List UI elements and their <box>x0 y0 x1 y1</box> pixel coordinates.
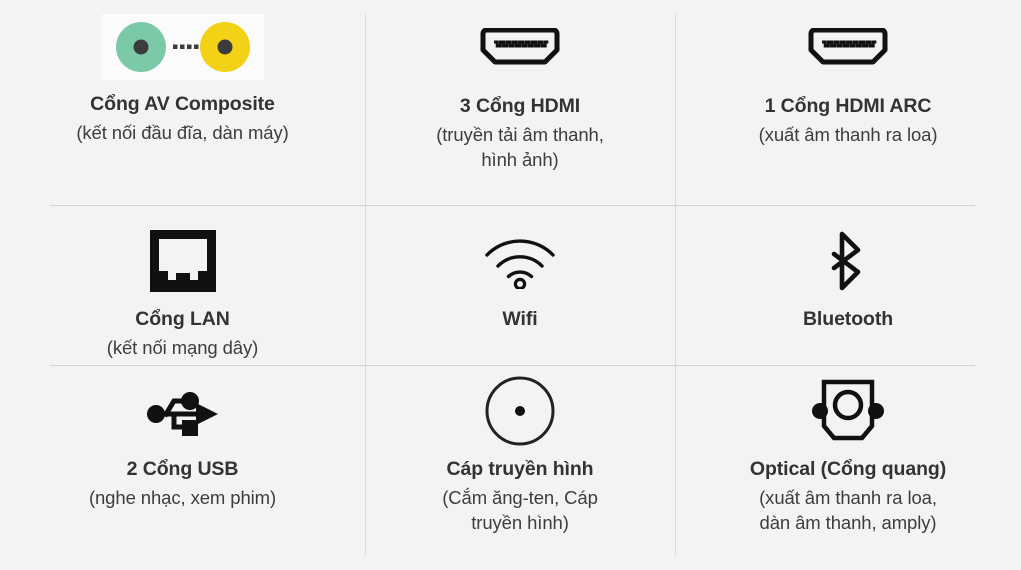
port-cell-optical: Optical (Cổng quang) (xuất âm thanh ra l… <box>675 365 1021 570</box>
port-subtitle: (Cắm ăng-ten, Cáp truyền hình) <box>442 486 598 535</box>
port-subtitle-line: (nghe nhạc, xem phim) <box>89 486 276 511</box>
hdmi-arc-icon <box>805 14 891 82</box>
vertical-divider-2 <box>675 14 676 556</box>
optical-port-icon <box>808 377 888 445</box>
port-subtitle: (kết nối đầu đĩa, dàn máy) <box>76 121 288 146</box>
lan-port-icon <box>150 227 216 295</box>
av-composite-icon <box>102 14 264 80</box>
wifi-icon <box>482 227 558 295</box>
bluetooth-icon <box>828 227 868 295</box>
port-subtitle-line: (truyền tải âm thanh, <box>436 123 604 148</box>
port-subtitle: (kết nối mạng dây) <box>107 336 258 361</box>
port-cell-av-composite: Cổng AV Composite (kết nối đầu đĩa, dàn … <box>0 0 365 205</box>
port-subtitle-line: (kết nối đầu đĩa, dàn máy) <box>76 121 288 146</box>
vertical-divider-1 <box>365 14 366 556</box>
port-subtitle-line: dàn âm thanh, amply) <box>750 511 946 536</box>
port-title: Cổng LAN <box>107 307 258 333</box>
port-subtitle-line: (Cắm ăng-ten, Cáp <box>442 486 598 511</box>
usb-icon <box>144 377 222 445</box>
horizontal-divider-1 <box>50 205 975 206</box>
port-cell-hdmi-arc: 1 Cổng HDMI ARC (xuất âm thanh ra loa) <box>675 0 1021 205</box>
port-labels: Optical (Cổng quang) (xuất âm thanh ra l… <box>750 457 946 535</box>
connectivity-ports-infographic: Cổng AV Composite (kết nối đầu đĩa, dàn … <box>0 0 1021 570</box>
port-subtitle-line: hình ảnh) <box>436 148 604 173</box>
port-cell-wifi: Wifi <box>365 205 675 365</box>
port-title: Wifi <box>502 307 537 333</box>
port-subtitle: (xuất âm thanh ra loa) <box>759 123 938 148</box>
port-title: Cáp truyền hình <box>442 457 598 483</box>
port-labels: Cổng AV Composite (kết nối đầu đĩa, dàn … <box>76 92 288 146</box>
port-labels: 3 Cổng HDMI (truyền tải âm thanh, hình ả… <box>436 94 604 172</box>
port-subtitle-line: (xuất âm thanh ra loa) <box>759 123 938 148</box>
port-cell-coaxial: Cáp truyền hình (Cắm ăng-ten, Cáp truyền… <box>365 365 675 570</box>
port-title: 2 Cổng USB <box>89 457 276 483</box>
port-labels: Cáp truyền hình (Cắm ăng-ten, Cáp truyền… <box>442 457 598 535</box>
port-labels: 2 Cổng USB (nghe nhạc, xem phim) <box>89 457 276 511</box>
port-title: Cổng AV Composite <box>76 92 288 118</box>
port-subtitle: (xuất âm thanh ra loa, dàn âm thanh, amp… <box>750 486 946 535</box>
port-labels: Wifi <box>502 307 537 333</box>
port-labels: Bluetooth <box>803 307 893 333</box>
coaxial-antenna-icon <box>484 377 556 445</box>
port-cell-usb: 2 Cổng USB (nghe nhạc, xem phim) <box>0 365 365 570</box>
port-cell-lan: Cổng LAN (kết nối mạng dây) <box>0 205 365 365</box>
port-labels: Cổng LAN (kết nối mạng dây) <box>107 307 258 361</box>
port-subtitle: (truyền tải âm thanh, hình ảnh) <box>436 123 604 172</box>
port-labels: 1 Cổng HDMI ARC (xuất âm thanh ra loa) <box>759 94 938 148</box>
port-subtitle-line: truyền hình) <box>442 511 598 536</box>
hdmi-icon <box>477 14 563 82</box>
port-subtitle-line: (kết nối mạng dây) <box>107 336 258 361</box>
port-subtitle: (nghe nhạc, xem phim) <box>89 486 276 511</box>
port-title: 1 Cổng HDMI ARC <box>759 94 938 120</box>
port-subtitle-line: (xuất âm thanh ra loa, <box>750 486 946 511</box>
port-cell-hdmi: 3 Cổng HDMI (truyền tải âm thanh, hình ả… <box>365 0 675 205</box>
ports-grid: Cổng AV Composite (kết nối đầu đĩa, dàn … <box>0 0 1021 570</box>
port-title: 3 Cổng HDMI <box>436 94 604 120</box>
horizontal-divider-2 <box>50 365 975 366</box>
port-title: Optical (Cổng quang) <box>750 457 946 483</box>
port-cell-bluetooth: Bluetooth <box>675 205 1021 365</box>
port-title: Bluetooth <box>803 307 893 333</box>
